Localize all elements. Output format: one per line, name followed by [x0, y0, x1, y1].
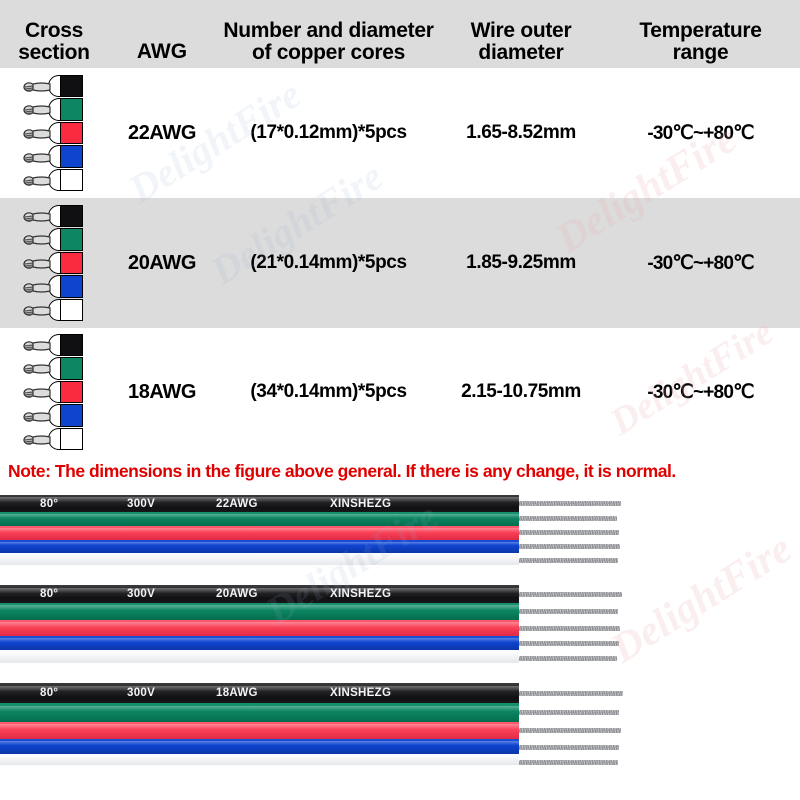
diameter-value: 1.85-9.25mm: [466, 252, 576, 273]
awg-value: 20AWG: [128, 252, 196, 274]
jacket-voltage-label: 300V: [127, 588, 155, 600]
cores-value: (17*0.12mm)*5pcs: [250, 122, 406, 143]
cable-band-red: [0, 722, 519, 739]
table-row: 20AWG (21*0.14mm)*5pcs 1.85-9.25mm -30℃~…: [0, 198, 800, 328]
jacket-brand-label: XINSHEZG: [330, 687, 391, 699]
header-cross-section-line2: section: [18, 42, 89, 64]
diameter-cell: 1.65-8.52mm: [441, 122, 601, 144]
cable-band-white: [0, 553, 519, 565]
copper-strand-icon: [23, 151, 57, 163]
copper-strand-icon: [23, 174, 57, 186]
stripped-lead: [519, 691, 623, 696]
conductor-color-white: [60, 428, 83, 451]
stripped-lead: [519, 745, 619, 750]
diameter-value: 2.15-10.75mm: [461, 381, 581, 402]
cable-jacket: 80° 300V 22AWG XINSHEZG: [0, 495, 519, 565]
cores-cell: (17*0.12mm)*5pcs: [216, 122, 441, 144]
note-text: Note: The dimensions in the figure above…: [8, 461, 798, 482]
jacket-awg-label: 22AWG: [216, 498, 258, 510]
jacket-temp-label: 80°: [40, 498, 58, 510]
cable-band-black: 80° 300V 18AWG XINSHEZG: [0, 683, 519, 703]
temperature-value: -30℃~+80℃: [647, 253, 753, 274]
stripped-lead: [519, 558, 618, 563]
awg-cell: 22AWG: [108, 122, 216, 145]
diameter-cell: 2.15-10.75mm: [441, 381, 601, 403]
conductor-color-green: [60, 228, 83, 251]
cable-band-green: [0, 603, 519, 620]
header-cross-section-line1: Cross: [18, 20, 89, 42]
awg-cell: 20AWG: [108, 252, 216, 275]
temperature-cell: -30℃~+80℃: [601, 381, 800, 404]
awg-value: 18AWG: [128, 381, 196, 403]
stripped-lead: [519, 626, 620, 631]
cable-band-red: [0, 526, 519, 540]
cable-band-green: [0, 703, 519, 722]
column-header-cores: Number and diameter of copper cores: [216, 20, 441, 64]
cross-section-icon: [23, 74, 85, 192]
specification-table: Cross section AWG Number and diameter of…: [0, 0, 800, 456]
conductor-color-red: [60, 381, 83, 404]
cross-section-cell: [0, 204, 108, 322]
cross-section-cell: [0, 74, 108, 192]
cable-photo-22awg: 80° 300V 22AWG XINSHEZG: [0, 495, 800, 565]
copper-strand-icon: [23, 433, 57, 445]
cable-photo-20awg: 80° 300V 20AWG XINSHEZG: [0, 585, 800, 663]
conductor-color-black: [60, 75, 83, 98]
stripped-lead: [519, 609, 618, 614]
column-header-temperature: Temperature range: [601, 20, 800, 64]
table-row: 22AWG (17*0.12mm)*5pcs 1.65-8.52mm -30℃~…: [0, 68, 800, 198]
cable-band-white: [0, 754, 519, 765]
temperature-cell: -30℃~+80℃: [601, 122, 800, 145]
header-awg-label: AWG: [137, 40, 187, 64]
jacket-voltage-label: 300V: [127, 498, 155, 510]
cable-band-red: [0, 620, 519, 636]
copper-strand-icon: [23, 233, 57, 245]
awg-value: 22AWG: [128, 122, 196, 144]
copper-strand-icon: [23, 304, 57, 316]
jacket-awg-label: 20AWG: [216, 588, 258, 600]
header-diameter-line2: diameter: [441, 42, 601, 64]
conductor-color-green: [60, 98, 83, 121]
stripped-lead: [519, 501, 621, 506]
copper-strand-icon: [23, 127, 57, 139]
jacket-brand-label: XINSHEZG: [330, 588, 391, 600]
temperature-value: -30℃~+80℃: [647, 123, 753, 144]
temperature-value: -30℃~+80℃: [647, 382, 753, 403]
stripped-lead: [519, 656, 617, 661]
conductor-color-red: [60, 252, 83, 275]
conductor-color-white: [60, 299, 83, 322]
cable-band-white: [0, 650, 519, 663]
copper-strand-icon: [23, 386, 57, 398]
conductor-color-black: [60, 334, 83, 357]
stripped-lead: [519, 710, 619, 715]
copper-strand-icon: [23, 339, 57, 351]
cable-band-black: 80° 300V 22AWG XINSHEZG: [0, 495, 519, 512]
cable-band-blue: [0, 739, 519, 754]
jacket-temp-label: 80°: [40, 687, 58, 699]
stripped-lead: [519, 516, 617, 521]
copper-strand-icon: [23, 257, 57, 269]
stripped-lead: [519, 728, 621, 733]
diameter-value: 1.65-8.52mm: [466, 122, 576, 143]
cable-band-green: [0, 512, 519, 526]
conductor-color-red: [60, 122, 83, 145]
copper-strand-icon: [23, 362, 57, 374]
header-diameter-line1: Wire outer: [441, 20, 601, 42]
jacket-voltage-label: 300V: [127, 687, 155, 699]
stripped-lead: [519, 530, 619, 535]
cross-section-cell: [0, 333, 108, 451]
conductor-color-blue: [60, 404, 83, 427]
cores-cell: (21*0.14mm)*5pcs: [216, 252, 441, 274]
stripped-lead: [519, 641, 619, 646]
cable-band-blue: [0, 636, 519, 650]
cable-photo-18awg: 80° 300V 18AWG XINSHEZG: [0, 683, 800, 765]
cable-jacket: 80° 300V 18AWG XINSHEZG: [0, 683, 519, 765]
header-temperature-line1: Temperature: [601, 20, 800, 42]
cable-band-blue: [0, 540, 519, 553]
stripped-lead: [519, 592, 622, 597]
cable-band-black: 80° 300V 20AWG XINSHEZG: [0, 585, 519, 603]
cross-section-icon: [23, 333, 85, 451]
jacket-brand-label: XINSHEZG: [330, 498, 391, 510]
cable-jacket: 80° 300V 20AWG XINSHEZG: [0, 585, 519, 663]
conductor-color-green: [60, 357, 83, 380]
jacket-temp-label: 80°: [40, 588, 58, 600]
table-header-row: Cross section AWG Number and diameter of…: [0, 0, 800, 68]
column-header-awg: AWG: [108, 40, 216, 64]
diameter-cell: 1.85-9.25mm: [441, 252, 601, 274]
conductor-color-white: [60, 169, 83, 192]
awg-cell: 18AWG: [108, 381, 216, 404]
stripped-lead: [519, 760, 618, 765]
copper-strand-icon: [23, 103, 57, 115]
jacket-awg-label: 18AWG: [216, 687, 258, 699]
copper-strand-icon: [23, 281, 57, 293]
cores-cell: (34*0.14mm)*5pcs: [216, 381, 441, 403]
column-header-diameter: Wire outer diameter: [441, 20, 601, 64]
column-header-cross-section: Cross section: [0, 20, 108, 64]
conductor-color-blue: [60, 275, 83, 298]
header-temperature-line2: range: [601, 42, 800, 64]
copper-strand-icon: [23, 210, 57, 222]
stripped-lead: [519, 544, 620, 549]
cores-value: (34*0.14mm)*5pcs: [250, 381, 406, 402]
cross-section-icon: [23, 204, 85, 322]
conductor-color-black: [60, 205, 83, 228]
table-row: 18AWG (34*0.14mm)*5pcs 2.15-10.75mm -30℃…: [0, 328, 800, 456]
copper-strand-icon: [23, 410, 57, 422]
header-cores-line1: Number and diameter: [216, 20, 441, 42]
header-cores-line2: of copper cores: [216, 42, 441, 64]
conductor-color-blue: [60, 145, 83, 168]
temperature-cell: -30℃~+80℃: [601, 252, 800, 275]
cores-value: (21*0.14mm)*5pcs: [250, 252, 406, 273]
copper-strand-icon: [23, 80, 57, 92]
